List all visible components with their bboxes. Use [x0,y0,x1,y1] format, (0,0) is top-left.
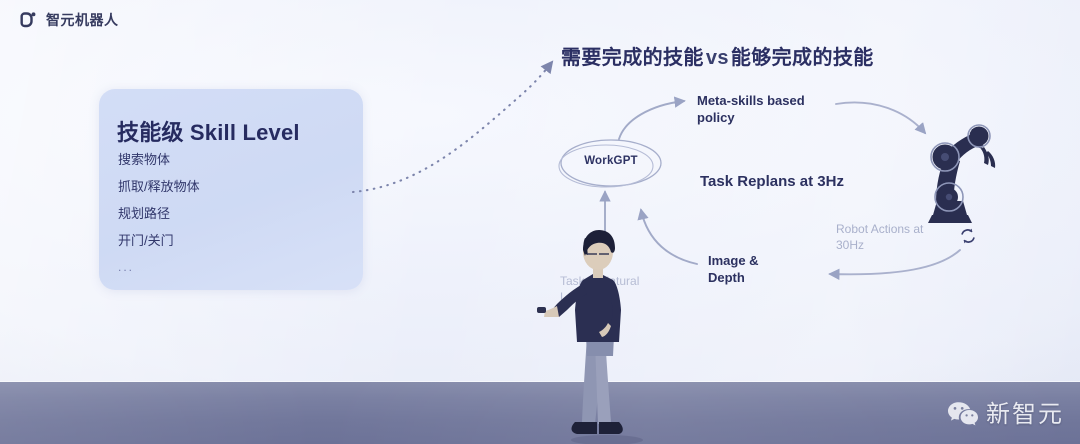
label-task-replans: Task Replans at 3Hz [700,172,844,192]
workgpt-node-label: WorkGPT [578,155,644,167]
wechat-icon [947,401,979,428]
brand-name: 智元机器人 [46,13,119,27]
refresh-loop-icon [958,226,978,246]
skill-list: 搜索物体 抓取/释放物体 规划路径 开门/关门 ... [118,153,200,287]
list-item: 抓取/释放物体 [118,180,200,193]
list-item: 搜索物体 [118,153,200,166]
label-image-depth: Image & Depth [708,252,759,286]
headline-left: 需要完成的技能 [561,47,704,69]
watermark: 新智元 [947,401,1064,428]
slide-headline: 需要完成的技能vs能够完成的技能 [561,41,874,70]
robot-arm-icon [900,105,1000,235]
skill-level-card: 技能级 Skill Level 搜索物体 抓取/释放物体 规划路径 开门/关门 … [99,89,363,290]
watermark-name: 新智元 [986,403,1064,427]
presentation-photo: 智元机器人 技能级 Skill Level 搜索物体 抓取/释放物体 规划路径 … [0,0,1080,444]
headline-vs: vs [704,47,731,69]
agibot-droplet-icon [18,10,38,30]
list-item-more: ... [118,261,200,273]
card-title: 技能级 Skill Level [117,115,300,147]
presenter-person [535,218,665,444]
list-item: 规划路径 [118,207,200,220]
brand-logo: 智元机器人 [18,10,119,30]
list-item: 开门/关门 [118,234,200,247]
label-meta-skills-policy: Meta-skills based policy [697,92,817,126]
headline-right: 能够完成的技能 [731,47,874,69]
